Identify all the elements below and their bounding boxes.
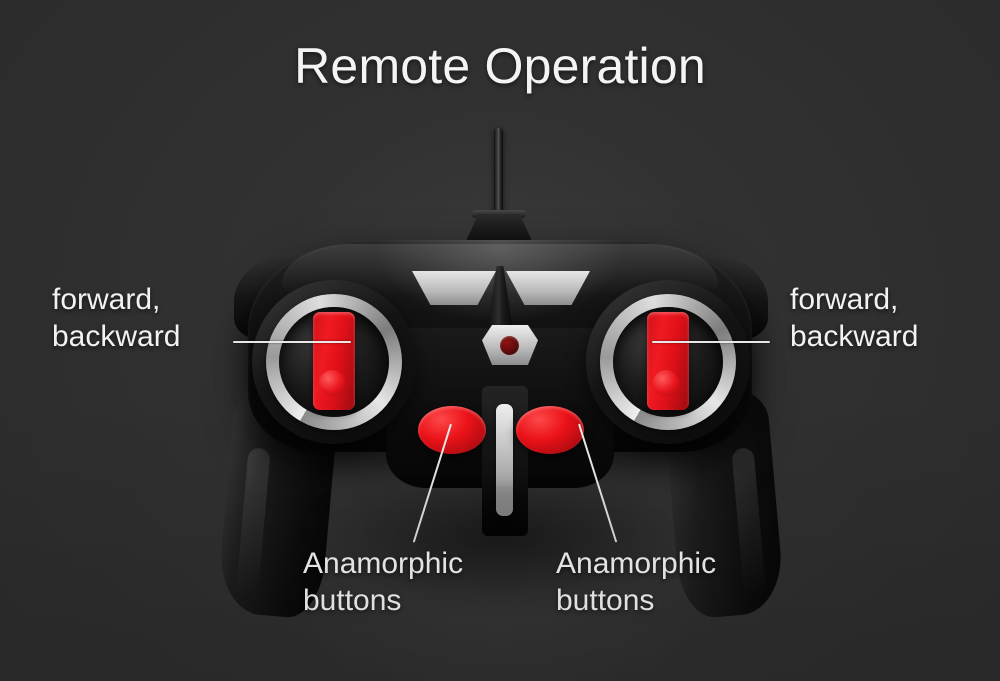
callout-right-buttons-line2: buttons xyxy=(556,583,716,620)
antenna xyxy=(494,128,503,220)
callout-right-joystick-line2: backward xyxy=(790,319,918,356)
callout-right-buttons-line1: Anamorphic xyxy=(556,546,716,583)
right-forward-backward-connector xyxy=(652,341,770,343)
callout-left-buttons: Anamorphic buttons xyxy=(303,546,463,619)
callout-left-joystick-line1: forward, xyxy=(52,282,180,319)
left-anamorphic-button[interactable] xyxy=(418,406,486,454)
left-joystick-lever[interactable] xyxy=(313,312,355,410)
left-forward-backward-connector xyxy=(233,341,351,343)
callout-left-buttons-line1: Anamorphic xyxy=(303,546,463,583)
power-led-indicator xyxy=(500,336,519,355)
callout-right-joystick: forward, backward xyxy=(790,282,918,355)
rc-remote-controller xyxy=(190,128,810,638)
page-title: Remote Operation xyxy=(0,40,1000,93)
callout-left-joystick-line2: backward xyxy=(52,319,180,356)
right-grip-highlight xyxy=(731,447,766,598)
left-grip-highlight xyxy=(236,447,271,598)
callout-right-joystick-line1: forward, xyxy=(790,282,918,319)
callout-left-joystick: forward, backward xyxy=(52,282,180,355)
right-anamorphic-button[interactable] xyxy=(516,406,584,454)
infographic-stage: Remote Operation xyxy=(0,0,1000,681)
left-joystick[interactable] xyxy=(252,280,416,444)
callout-right-buttons: Anamorphic buttons xyxy=(556,546,716,619)
callout-left-buttons-line2: buttons xyxy=(303,583,463,620)
right-joystick[interactable] xyxy=(586,280,750,444)
right-joystick-lever[interactable] xyxy=(647,312,689,410)
